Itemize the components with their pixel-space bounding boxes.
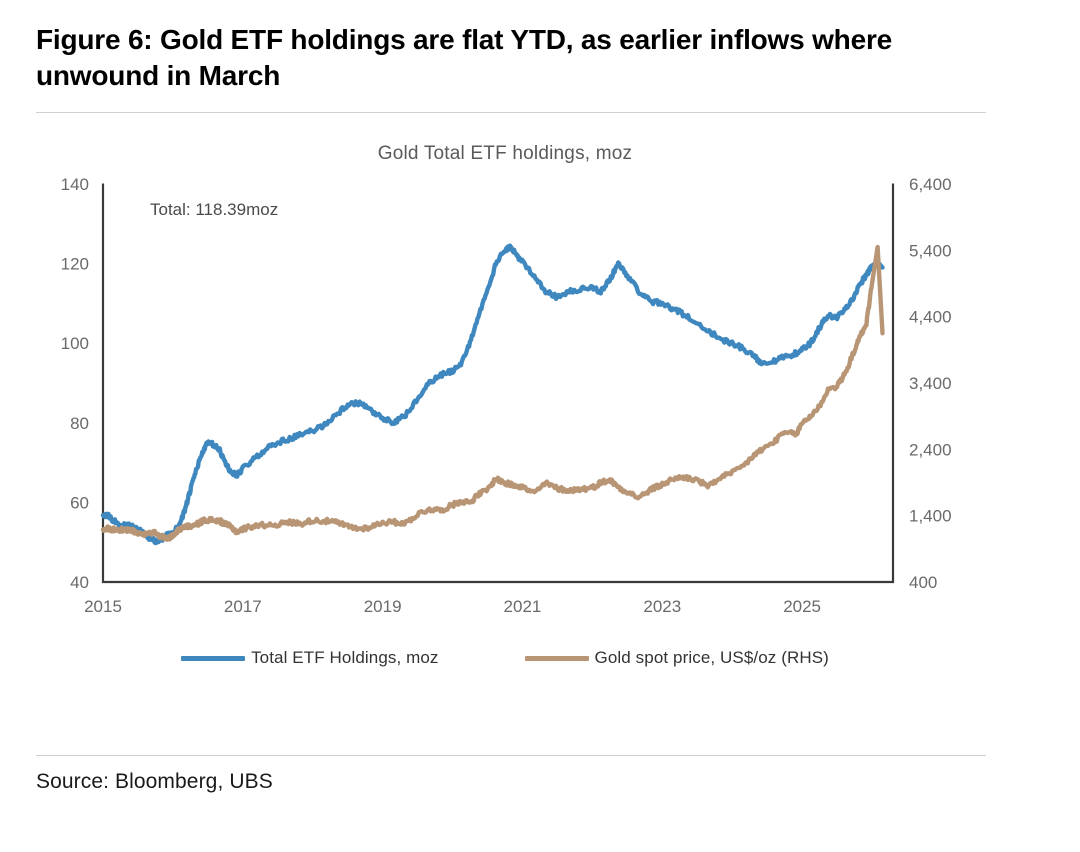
legend-item-etf-holdings: Total ETF Holdings, moz: [181, 648, 438, 668]
y-axis-right-tick-label: 4,400: [909, 308, 952, 327]
figure-title: Figure 6: Gold ETF holdings are flat YTD…: [36, 22, 986, 94]
chart-container: Gold Total ETF holdings, moz Total: 118.…: [0, 125, 1010, 695]
legend-item-gold-price: Gold spot price, US$/oz (RHS): [525, 648, 829, 668]
source-note: Source: Bloomberg, UBS: [36, 770, 273, 794]
series-line-etf-holdings: [103, 246, 883, 543]
y-axis-right-tick-label: 5,400: [909, 241, 952, 260]
y-axis-right-tick-label: 3,400: [909, 374, 952, 393]
chart-legend: Total ETF Holdings, moz Gold spot price,…: [0, 648, 1010, 668]
x-axis-tick-label: 2017: [224, 597, 262, 616]
figure-page: Figure 6: Gold ETF holdings are flat YTD…: [0, 0, 1080, 852]
legend-label-gold-price: Gold spot price, US$/oz (RHS): [595, 648, 829, 668]
y-axis-left-tick-label: 60: [70, 493, 89, 512]
legend-label-etf-holdings: Total ETF Holdings, moz: [251, 648, 438, 668]
y-axis-right-tick-label: 6,400: [909, 175, 952, 194]
y-axis-left-tick-label: 120: [61, 255, 89, 274]
footer-divider: [36, 755, 986, 756]
y-axis-right-tick-label: 2,400: [909, 440, 952, 459]
x-axis-tick-label: 2021: [504, 597, 542, 616]
x-axis-tick-label: 2015: [84, 597, 122, 616]
y-axis-left-tick-label: 80: [70, 414, 89, 433]
y-axis-left-tick-label: 40: [70, 573, 89, 592]
header-divider: [36, 112, 986, 113]
x-axis-tick-label: 2019: [364, 597, 402, 616]
y-axis-left-tick-label: 140: [61, 175, 89, 194]
x-axis-tick-label: 2025: [783, 597, 821, 616]
y-axis-left-tick-label: 100: [61, 334, 89, 353]
y-axis-right-tick-label: 400: [909, 573, 937, 592]
chart-plot: 4060801001201404001,4002,4003,4004,4005,…: [0, 125, 1010, 695]
x-axis-tick-label: 2023: [643, 597, 681, 616]
series-line-gold-price: [103, 247, 883, 540]
legend-swatch-line-icon: [181, 656, 245, 661]
legend-swatch-line-icon: [525, 656, 589, 661]
y-axis-right-tick-label: 1,400: [909, 507, 952, 526]
